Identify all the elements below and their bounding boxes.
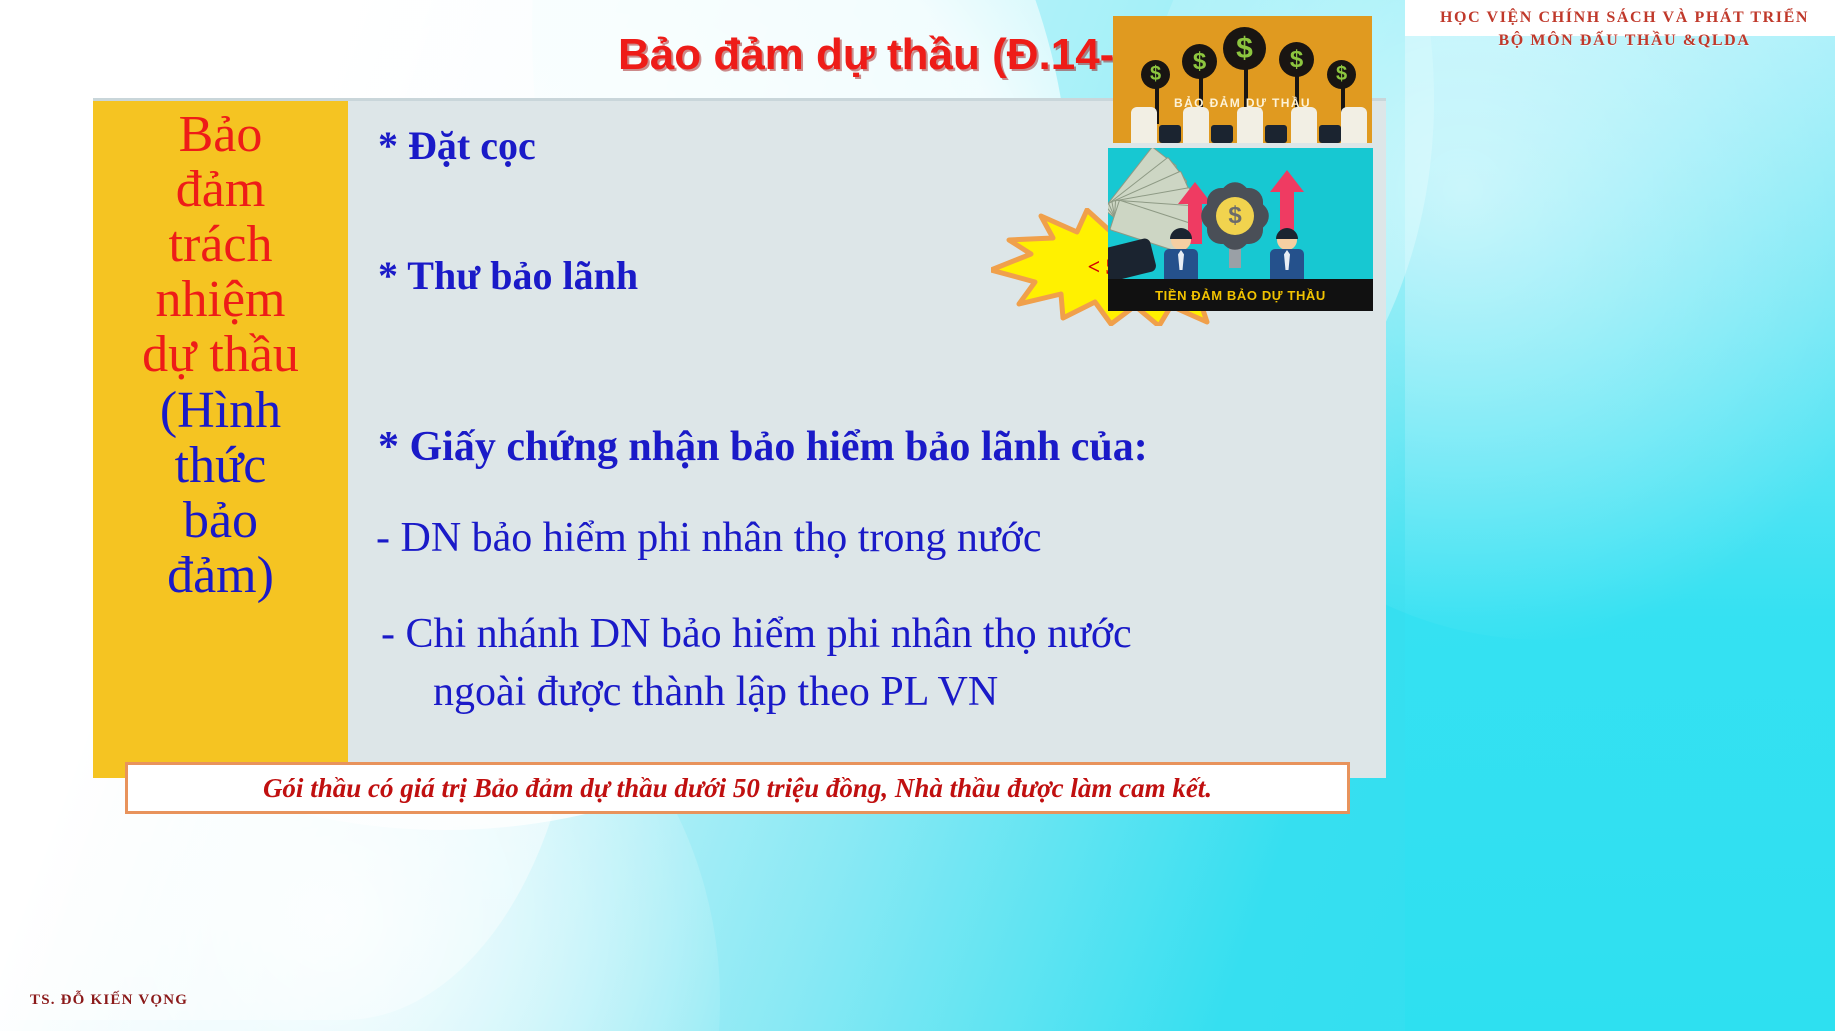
footer-note-text: Gói thầu có giá trị Bảo đảm dự thầu dưới… — [263, 773, 1212, 804]
badge-dollar-icon: $ — [1216, 197, 1254, 235]
hand-icon — [1183, 107, 1209, 143]
image-bao-dam-du-thau: $ $ $ $ $ BẢO ĐẢM DỰ THẦU — [1113, 16, 1372, 143]
sleeve-icon — [1319, 125, 1341, 143]
bullet-dat-coc: * Đặt cọc — [378, 123, 536, 169]
left-label-line: Bảo — [179, 107, 263, 162]
person-icon — [1270, 230, 1304, 280]
left-label-line: đảm) — [167, 548, 274, 603]
page-title: Bảo đảm dự thầu (Đ.14-L.22) — [0, 30, 1835, 80]
image-bottom-banner: TIỀN ĐẢM BẢO DỰ THẦU — [1108, 279, 1373, 311]
hand-icon — [1237, 107, 1263, 143]
left-label-line: thức — [175, 438, 267, 493]
sub-item-chi-nhanh-line1: - Chi nhánh DN bảo hiểm phi nhân thọ nướ… — [381, 611, 1132, 657]
left-label-line: bảo — [183, 493, 258, 548]
dollar-icon: $ — [1141, 60, 1170, 89]
left-category-column: Bảo đảm trách nhiệm dự thầu (Hình thức b… — [93, 101, 348, 778]
bullet-thu-bao-lanh: * Thư bảo lãnh — [378, 253, 638, 299]
dollar-icon: $ — [1182, 44, 1217, 79]
hands-row — [1113, 105, 1372, 143]
institution-line-1: HỌC VIỆN CHÍNH SÁCH VÀ PHÁT TRIỂN — [1440, 6, 1809, 29]
footer-note-box: Gói thầu có giá trị Bảo đảm dự thầu dưới… — [125, 762, 1350, 814]
left-label-line: (Hình — [160, 383, 281, 438]
dollar-icon: $ — [1279, 42, 1314, 77]
image-tien-dam-bao-du-thau: $ TIỀN ĐẢM BẢO DỰ THẦU — [1108, 148, 1373, 311]
sub-item-chi-nhanh: - Chi nhánh DN bảo hiểm phi nhân thọ nướ… — [381, 609, 1391, 718]
sub-item-chi-nhanh-line2: ngoài được thành lập theo PL VN — [381, 667, 1391, 717]
sleeve-icon — [1211, 125, 1233, 143]
left-label-line: dự thầu — [142, 327, 299, 382]
dollar-icon: $ — [1327, 60, 1356, 89]
bullet-giay-chung-nhan: * Giấy chứng nhận bảo hiểm bảo lãnh của: — [378, 423, 1148, 471]
hand-icon — [1291, 107, 1317, 143]
sub-item-dn-bao-hiem: - DN bảo hiểm phi nhân thọ trong nước — [376, 513, 1042, 563]
sleeve-icon — [1159, 125, 1181, 143]
dollar-icon: $ — [1223, 27, 1266, 70]
slide-canvas: HỌC VIỆN CHÍNH SÁCH VÀ PHÁT TRIỂN BỘ MÔN… — [0, 0, 1835, 1031]
author-credit: TS. ĐỖ KIẾN VỌNG — [30, 992, 188, 1009]
image-bottom-caption: TIỀN ĐẢM BẢO DỰ THẦU — [1155, 288, 1326, 303]
left-label-line: trách — [169, 217, 273, 272]
hand-icon — [1131, 107, 1157, 143]
person-icon — [1164, 230, 1198, 280]
left-label-line: đảm — [176, 162, 266, 217]
sleeve-icon — [1265, 125, 1287, 143]
left-label-line: nhiệm — [156, 272, 286, 327]
hand-icon — [1341, 107, 1367, 143]
